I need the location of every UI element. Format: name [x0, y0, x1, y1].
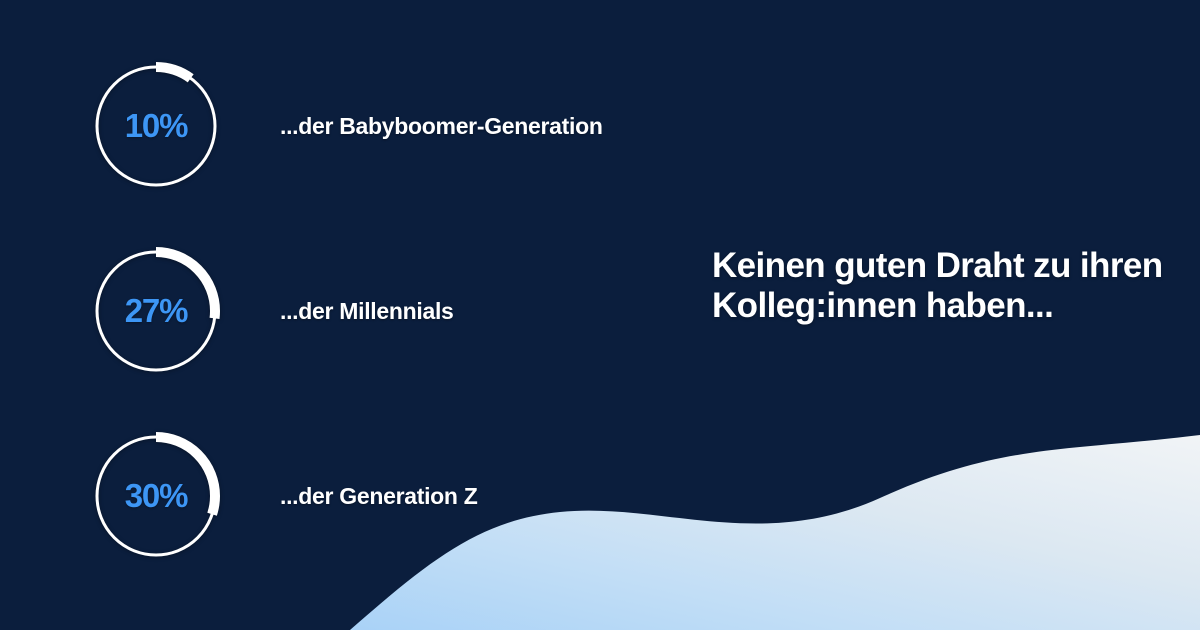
donut-gauge: 27%	[92, 247, 220, 375]
stat-label: ...der Millennials	[280, 298, 454, 325]
headline: Keinen guten Draht zu ihren Kolleg:innen…	[712, 246, 1182, 326]
gauge-value-label: 27%	[92, 247, 220, 375]
stat-row: 30% ...der Generation Z	[92, 432, 1092, 560]
infographic-canvas: 10% ...der Babyboomer-Generation 27% ...…	[0, 0, 1200, 630]
headline-line-2: Kolleg:innen haben...	[712, 286, 1182, 326]
gauge-value-label: 10%	[92, 62, 220, 190]
donut-gauge: 10%	[92, 62, 220, 190]
donut-gauge: 30%	[92, 432, 220, 560]
gauge-value-label: 30%	[92, 432, 220, 560]
stat-row: 10% ...der Babyboomer-Generation	[92, 62, 1092, 190]
headline-line-1: Keinen guten Draht zu ihren	[712, 246, 1182, 286]
stat-label: ...der Babyboomer-Generation	[280, 113, 603, 140]
stat-label: ...der Generation Z	[280, 483, 478, 510]
